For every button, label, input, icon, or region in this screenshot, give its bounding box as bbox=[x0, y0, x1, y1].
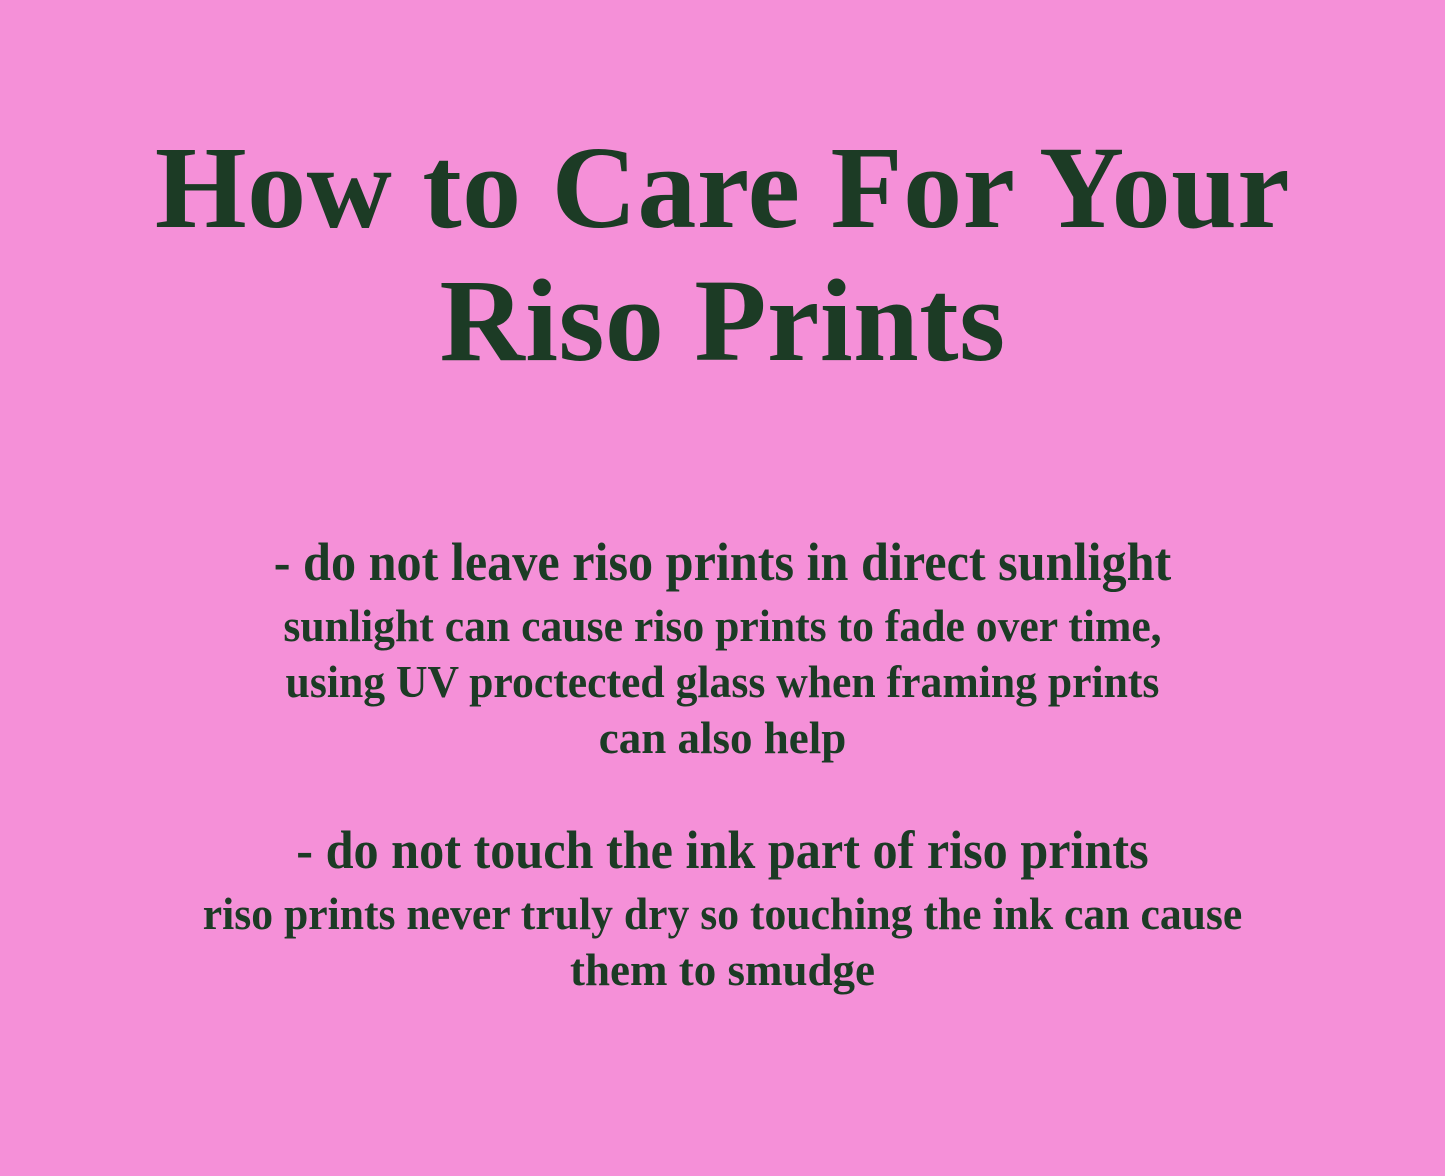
title-line-2: Riso Prints bbox=[0, 251, 1445, 390]
poster-canvas: How to Care For Your Riso Prints - do no… bbox=[0, 0, 1445, 1176]
care-tip-detail-sunlight-line-2: using UV proctected glass when framing p… bbox=[22, 655, 1424, 711]
care-tip-section-ink: - do not touch the ink part of riso prin… bbox=[0, 822, 1445, 999]
care-tip-heading-ink: - do not touch the ink part of riso prin… bbox=[51, 822, 1395, 879]
care-tip-heading-sunlight: - do not leave riso prints in direct sun… bbox=[51, 534, 1395, 591]
care-tip-detail-ink-line-2: them to smudge bbox=[0, 943, 1445, 999]
care-tip-detail-ink-line-1: riso prints never truly dry so touching … bbox=[22, 887, 1424, 943]
poster-title: How to Care For Your Riso Prints bbox=[0, 118, 1445, 390]
title-line-1: How to Care For Your bbox=[0, 118, 1445, 257]
care-tip-detail-sunlight-line-1: sunlight can cause riso prints to fade o… bbox=[22, 599, 1424, 655]
care-tip-section-sunlight: - do not leave riso prints in direct sun… bbox=[0, 534, 1445, 767]
care-tip-detail-sunlight-line-3: can also help bbox=[0, 711, 1445, 767]
